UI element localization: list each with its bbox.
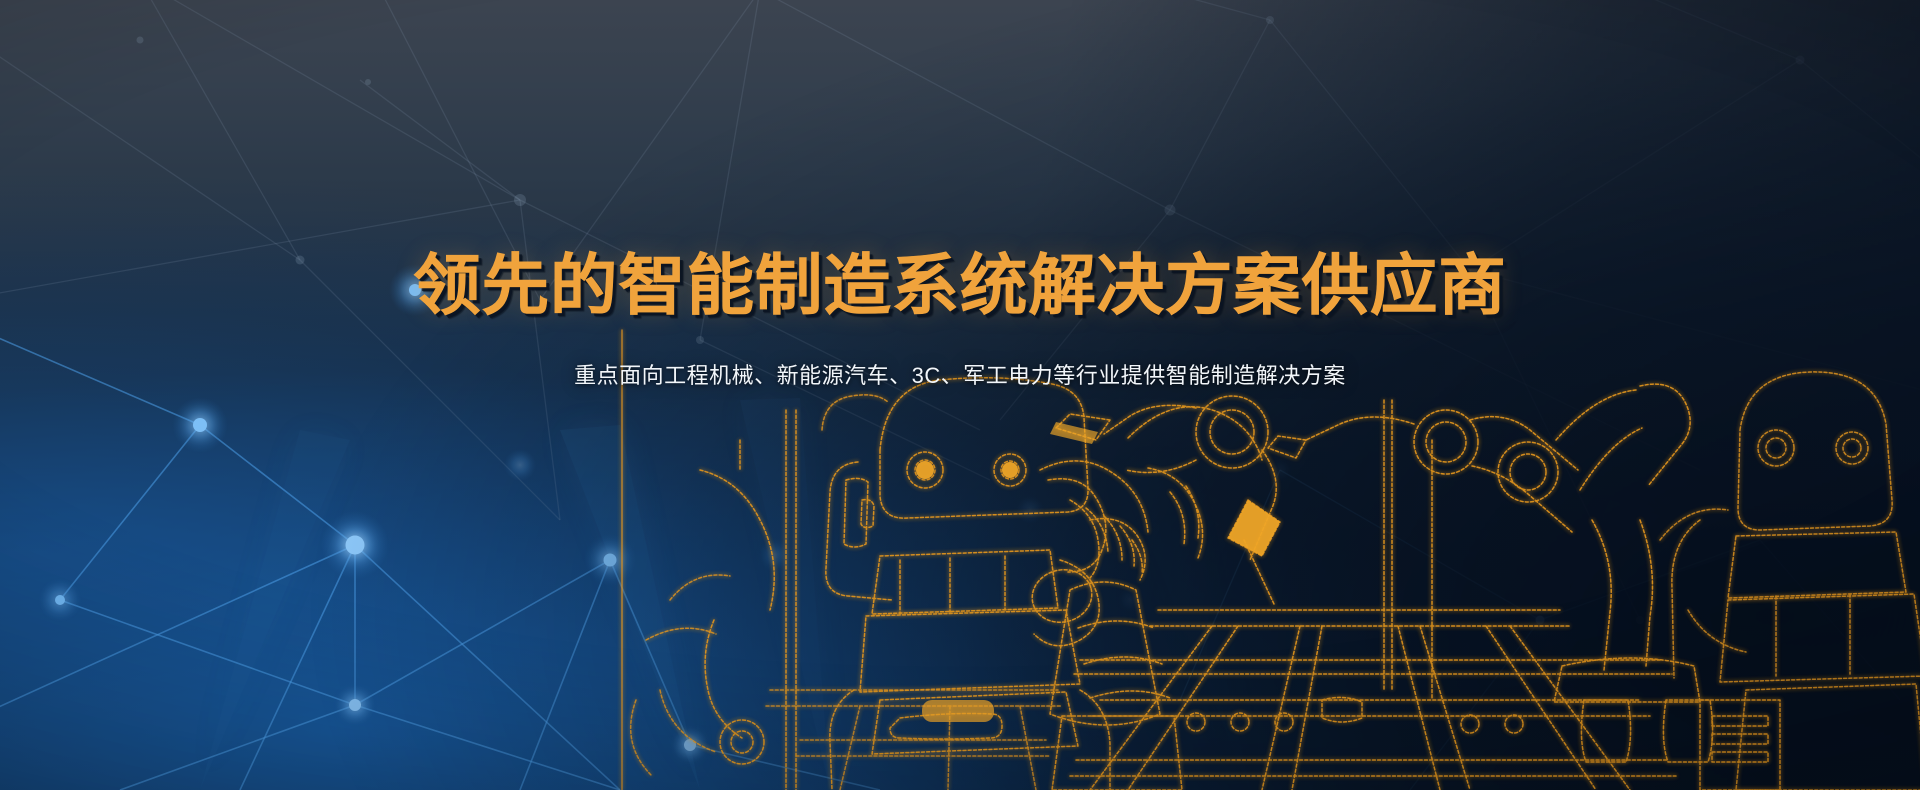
hero-text-block: 领先的智能制造系统解决方案供应商 重点面向工程机械、新能源汽车、3C、军工电力等… [0,252,1920,391]
background-vignette [0,0,1920,790]
page-title: 领先的智能制造系统解决方案供应商 [0,252,1920,318]
page-subtitle: 重点面向工程机械、新能源汽车、3C、军工电力等行业提供智能制造解决方案 [0,362,1920,391]
hero-banner: 领先的智能制造系统解决方案供应商 重点面向工程机械、新能源汽车、3C、军工电力等… [0,0,1920,790]
